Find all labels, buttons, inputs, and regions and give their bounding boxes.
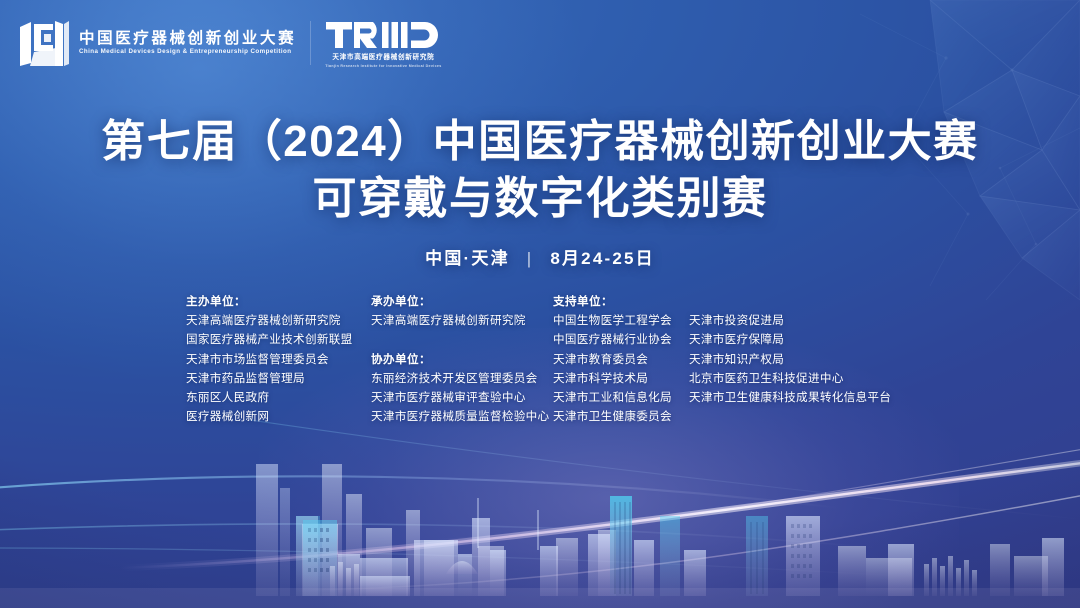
competition-name-en: China Medical Devices Design & Entrepren… bbox=[79, 49, 301, 55]
support-item: 天津市教育委员会 bbox=[553, 350, 689, 369]
host-item: 天津高端医疗器械创新研究院 bbox=[186, 311, 371, 330]
institute-name-cn: 天津市高端医疗器械创新研究院 bbox=[332, 55, 434, 62]
event-date: 8月24-25日 bbox=[550, 249, 655, 268]
co-organizer-item: 天津市医疗器械质量监督检验中心 bbox=[371, 407, 553, 426]
title-line-1: 第七届（2024）中国医疗器械创新创业大赛 bbox=[0, 116, 1080, 167]
event-location: 中国·天津 bbox=[425, 249, 510, 268]
support-item: 中国医疗器械行业协会 bbox=[553, 330, 689, 349]
co-organizer-item: 天津市医疗器械审评查验中心 bbox=[371, 388, 553, 407]
event-meta: 中国·天津 | 8月24-25日 bbox=[0, 244, 1080, 269]
hero-title-block: 第七届（2024）中国医疗器械创新创业大赛 可穿戴与数字化类别赛 中国·天津 |… bbox=[0, 116, 1080, 269]
competition-logo[interactable]: 中国医疗器械创新创业大赛 China Medical Devices Desig… bbox=[18, 19, 296, 67]
competition-logo-text: 中国医疗器械创新创业大赛 China Medical Devices Desig… bbox=[79, 31, 296, 55]
organizers-block: 主办单位： 天津高端医疗器械创新研究院 国家医疗器械产业技术创新联盟 天津市市场… bbox=[186, 292, 946, 426]
title-line-2: 可穿戴与数字化类别赛 bbox=[0, 173, 1080, 224]
host-heading: 主办单位： bbox=[186, 292, 371, 311]
support-item: 中国生物医学工程学会 bbox=[553, 311, 689, 330]
city-skyline-silhouette bbox=[0, 398, 1080, 608]
support-item: 天津市工业和信息化局 bbox=[553, 388, 689, 407]
organizer-heading: 承办单位： bbox=[371, 292, 553, 311]
co-organizer-heading: 协办单位： bbox=[371, 350, 553, 369]
organizers-column-support-a: 支持单位： 中国生物医学工程学会 中国医疗器械行业协会 天津市教育委员会 天津市… bbox=[553, 292, 689, 426]
organizers-column-organizer: 承办单位： 天津高端医疗器械创新研究院 协办单位： 东丽经济技术开发区管理委员会… bbox=[371, 292, 553, 426]
organizer-item: 天津高端医疗器械创新研究院 bbox=[371, 311, 553, 330]
organizers-column-support-b: 天津市投资促进局 天津市医疗保障局 天津市知识产权局 北京市医药卫生科技促进中心… bbox=[689, 292, 891, 407]
support-item: 北京市医药卫生科技促进中心 bbox=[689, 369, 891, 388]
competition-name-cn: 中国医疗器械创新创业大赛 bbox=[79, 31, 296, 47]
host-item: 医疗器械创新网 bbox=[186, 407, 371, 426]
institute-logo[interactable]: 天津市高端医疗器械创新研究院 Tianjin Research Institut… bbox=[325, 18, 441, 68]
support-item: 天津市卫生健康科技成果转化信息平台 bbox=[689, 388, 891, 407]
support-item: 天津市医疗保障局 bbox=[689, 330, 891, 349]
support-item: 天津市科学技术局 bbox=[553, 369, 689, 388]
host-item: 天津市市场监督管理委员会 bbox=[186, 350, 371, 369]
triid-wordmark-icon bbox=[325, 18, 441, 52]
support-item: 天津市卫生健康委员会 bbox=[553, 407, 689, 426]
organizers-column-host: 主办单位： 天津高端医疗器械创新研究院 国家医疗器械产业技术创新联盟 天津市市场… bbox=[186, 292, 371, 426]
header-logo-group: 中国医疗器械创新创业大赛 China Medical Devices Desig… bbox=[18, 18, 442, 68]
logo-divider bbox=[310, 21, 311, 65]
co-organizer-item: 东丽经济技术开发区管理委员会 bbox=[371, 369, 553, 388]
poster-canvas: 中国医疗器械创新创业大赛 China Medical Devices Desig… bbox=[0, 0, 1080, 608]
institute-name-en: Tianjin Research Institute for Innovativ… bbox=[325, 65, 441, 69]
host-item: 国家医疗器械产业技术创新联盟 bbox=[186, 330, 371, 349]
open-door-logo-icon bbox=[18, 19, 70, 67]
support-heading: 支持单位： bbox=[553, 292, 689, 311]
support-item: 天津市投资促进局 bbox=[689, 311, 891, 330]
event-meta-separator: | bbox=[527, 249, 534, 269]
organizer-spacer bbox=[371, 330, 553, 349]
support-item: 天津市知识产权局 bbox=[689, 350, 891, 369]
host-item: 天津市药品监督管理局 bbox=[186, 369, 371, 388]
host-item: 东丽区人民政府 bbox=[186, 388, 371, 407]
